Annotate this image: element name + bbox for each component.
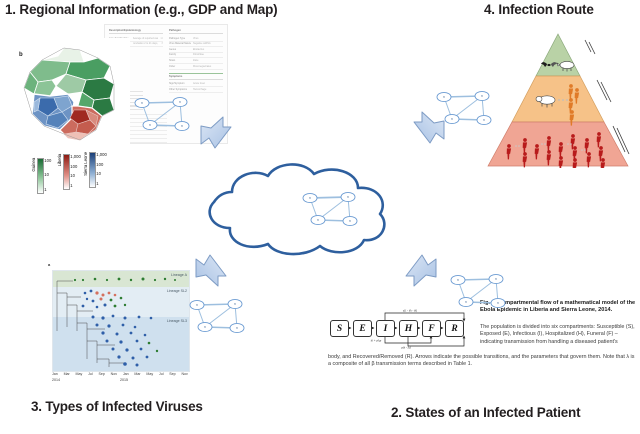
section-divider [169, 73, 223, 74]
legend-tick: 100 [96, 162, 106, 168]
legend-tick: 10 [96, 171, 106, 177]
table-row: Other Symptoms Hemorrhage [169, 87, 223, 93]
legend-tick: 1 [96, 181, 106, 187]
edge-label-bottom-right: γdh - Δd [401, 346, 411, 350]
legend-label: Guinea [31, 158, 36, 172]
legend-color-ramp [89, 152, 96, 188]
table-row: Order Mononegavirales [169, 64, 223, 70]
table-cell-value: Zaire [193, 59, 219, 62]
x-tick: Mar [64, 372, 70, 376]
compartment-E: E [353, 320, 372, 337]
x-tick: Sep [169, 372, 175, 376]
x-tick: Nov [181, 372, 187, 376]
svg-text:n: n [317, 218, 319, 222]
svg-text:n: n [497, 301, 499, 305]
lineage-tips [74, 278, 176, 367]
west-africa-choropleth-map [18, 38, 130, 150]
svg-text:n: n [309, 196, 311, 200]
section-title-states-of-infected-patient: 2. States of an Infected Patient [391, 405, 580, 420]
svg-text:n: n [236, 326, 238, 330]
compartment-R: R [445, 320, 464, 337]
legend-sierra-leone: Sierra Leone 1,000 100 10 1 [83, 152, 107, 188]
table-cell-key: Pathogen Type [169, 37, 191, 40]
svg-text:n: n [181, 124, 183, 128]
transmission-dots-middle [558, 99, 568, 101]
seihfr-compartment-diagram: γ(1 - δh - δi) γdh - Δd δi + γihp S E I … [328, 308, 476, 348]
svg-text:n: n [443, 95, 445, 99]
pyramid-tier-middle [512, 76, 604, 122]
table-cell-value: Filoviridae [193, 53, 219, 56]
svg-text:n: n [481, 94, 483, 98]
legend-color-ramp [63, 154, 70, 190]
legend-liberia: Liberia 1,000 100 10 1 [57, 154, 81, 190]
table-cell-value: Acute fever [193, 82, 219, 85]
pyramid-tier-top [536, 34, 580, 76]
legend-color-ramp [37, 158, 44, 194]
svg-text:n: n [141, 101, 143, 105]
table-column-header: Symptoms [169, 75, 223, 80]
x-tick: Jan [52, 372, 58, 376]
arrow-regional-to-cloud [193, 114, 235, 161]
compartment-H: H [399, 320, 418, 337]
x-tick: Nov [111, 372, 117, 376]
svg-text:n: n [483, 118, 485, 122]
svg-text:n: n [349, 219, 351, 223]
x-tick: Sep [98, 372, 104, 376]
legend-tick: 100 [70, 164, 80, 170]
svg-text:n: n [347, 195, 349, 199]
x-tick: May [76, 372, 83, 376]
svg-text:n: n [179, 100, 181, 104]
svg-text:n: n [495, 277, 497, 281]
x-tick: May [146, 372, 153, 376]
pyramid-tier-bottom [488, 122, 628, 166]
compartment-I: I [376, 320, 395, 337]
table-cell-key: Order [169, 65, 191, 68]
figure-caption-body: The population is divided into six compa… [480, 324, 636, 346]
section-title-infection-route: 4. Infection Route [484, 2, 594, 17]
arrow-infection-route-to-cloud [408, 108, 450, 155]
compartment-S: S [330, 320, 349, 337]
edge-label-bottom-left: δi + γihp [371, 339, 382, 343]
x-tick: Mar [134, 372, 140, 376]
table-cell-value: Incubation 2 to 21 days, avg 8 to 10 day… [133, 42, 158, 45]
legend-tick: 1 [70, 183, 80, 189]
patient-states-panel: γ(1 - δh - δi) γdh - Δd δi + γihp S E I … [328, 300, 636, 384]
x-tick: Jul [159, 372, 164, 376]
lineage-plot-area: Lineage A Lineage SL2 Lineage SL3 [52, 270, 190, 372]
year-label: 2015 [120, 378, 128, 382]
x-tick: Jan [123, 372, 129, 376]
table-column-header: Pathogen [169, 29, 223, 34]
arrow-virus-types-to-cloud [190, 248, 232, 295]
table-cell-key: Genus [169, 48, 191, 51]
graph-cloud-central: nn nn [296, 188, 364, 230]
compartment-F: F [422, 320, 441, 337]
map-legend-group: Guinea 100 10 1 Liberia 1,000 100 10 1 [23, 148, 109, 200]
table-cell-key: Other Symptoms [169, 88, 191, 91]
x-tick: Jul [88, 372, 93, 376]
legend-tick: 100 [44, 158, 51, 164]
section-title-regional-information: 1. Regional Information (e.g., GDP and M… [5, 2, 277, 17]
legend-tick: 10 [70, 173, 80, 179]
chart-panel-letter: a [48, 262, 50, 267]
table-cell-key: Sign/Symptom [169, 82, 191, 85]
svg-text:n: n [451, 117, 453, 121]
svg-text:n: n [457, 278, 459, 282]
phylogeny-tree [53, 271, 189, 371]
svg-text:n: n [196, 303, 198, 307]
virus-lineage-chart: a Lineage A Lineage SL2 Lineage SL3 [46, 262, 192, 388]
slide-canvas: 1. Regional Information (e.g., GDP and M… [0, 0, 640, 434]
map-panel-letter: b [19, 52, 23, 58]
lineage-x-axis-ticks: Jan Mar May Jul Sep Nov Jan Mar May Jul … [52, 372, 188, 376]
legend-tick: 1 [44, 187, 51, 193]
table-cell-key: Family [169, 53, 191, 56]
legend-ticks: 100 10 1 [44, 158, 51, 192]
arrow-patient-states-to-cloud [400, 248, 442, 295]
legend-label: Sierra Leone [83, 152, 88, 176]
year-label: 2014 [52, 378, 60, 382]
legend-tick: 1,000 [96, 152, 106, 158]
legend-tick: 10 [44, 172, 51, 178]
table-cell-value: Virus [193, 37, 219, 40]
table-cell-value: Hemorrhage [193, 88, 219, 91]
edge-label-top: γ(1 - δh - δi) [403, 309, 417, 313]
figure-caption-tail: body, and Recovered/Removed (R). Arrows … [328, 354, 636, 369]
svg-text:n: n [234, 302, 236, 306]
legend-tick: 1,000 [70, 154, 80, 160]
table-cell-value: Ebolavirus [193, 48, 219, 51]
table-cell-value: Mononegavirales [193, 65, 219, 68]
svg-text:n: n [465, 300, 467, 304]
table-cell-value: Average of reported cases per district [133, 37, 158, 40]
graph-virus-types: nn nn [183, 295, 251, 337]
svg-text:n: n [204, 325, 206, 329]
svg-text:n: n [149, 123, 151, 127]
table-cell-value: Negative ssRNA [193, 42, 219, 45]
legend-guinea: Guinea 100 10 1 [31, 158, 51, 194]
table-cell-count: 8 [160, 42, 163, 45]
legend-ticks: 1,000 100 10 1 [96, 152, 106, 186]
table-cell-key: Virus Material Nature [169, 42, 191, 45]
table-column-pathogen: Pathogen Pathogen Type Virus Virus Mater… [169, 29, 223, 93]
legend-ticks: 1,000 100 10 1 [70, 154, 80, 188]
graph-regional: nn nn [128, 93, 196, 135]
table-cell-count: 12 [160, 37, 163, 40]
section-title-types-of-infected-viruses: 3. Types of Infected Viruses [31, 399, 203, 414]
legend-label: Liberia [57, 154, 62, 166]
graph-patient-states: nn nn [444, 270, 512, 312]
table-column-header: Description/Epidemiology [109, 29, 163, 34]
table-cell-key: Strain [169, 59, 191, 62]
infection-route-pyramid [485, 28, 631, 168]
